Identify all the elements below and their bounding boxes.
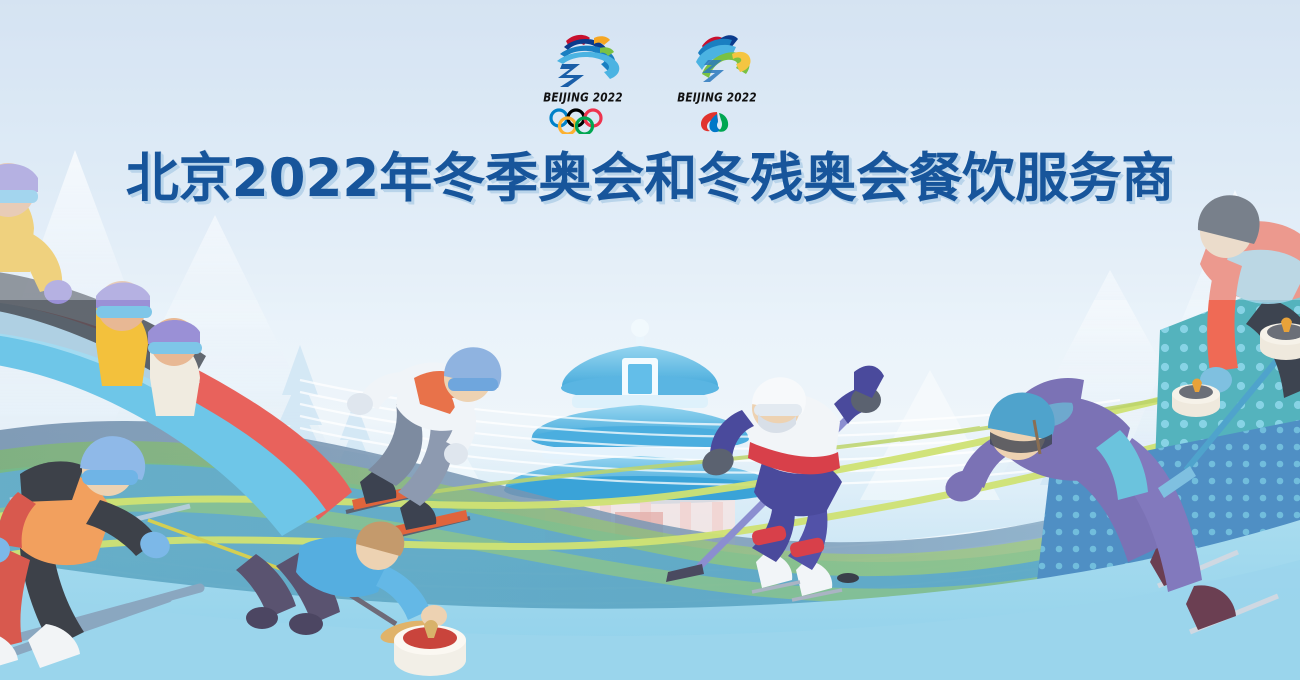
olympic-rings-icon xyxy=(543,108,623,134)
emblem-row: BEIJING 2022 BEIJIN xyxy=(0,30,1300,134)
page-title: 北京2022年冬季奥会和冬残奥会餐饮服务商 xyxy=(0,148,1300,210)
agitos-icon xyxy=(677,108,757,134)
olympic-emblem: BEIJING 2022 xyxy=(539,30,627,134)
paralympic-wordmark: BEIJING 2022 xyxy=(677,91,757,105)
paralympic-emblem-mark xyxy=(674,30,760,90)
olympics-catering-banner: BEIJING 2022 BEIJIN xyxy=(0,0,1300,680)
olympic-wordmark: BEIJING 2022 xyxy=(543,91,623,105)
olympic-emblem-mark xyxy=(540,30,626,90)
paralympic-emblem: BEIJING 2022 xyxy=(673,30,761,134)
bobsleigh-rider-3 xyxy=(148,318,202,416)
